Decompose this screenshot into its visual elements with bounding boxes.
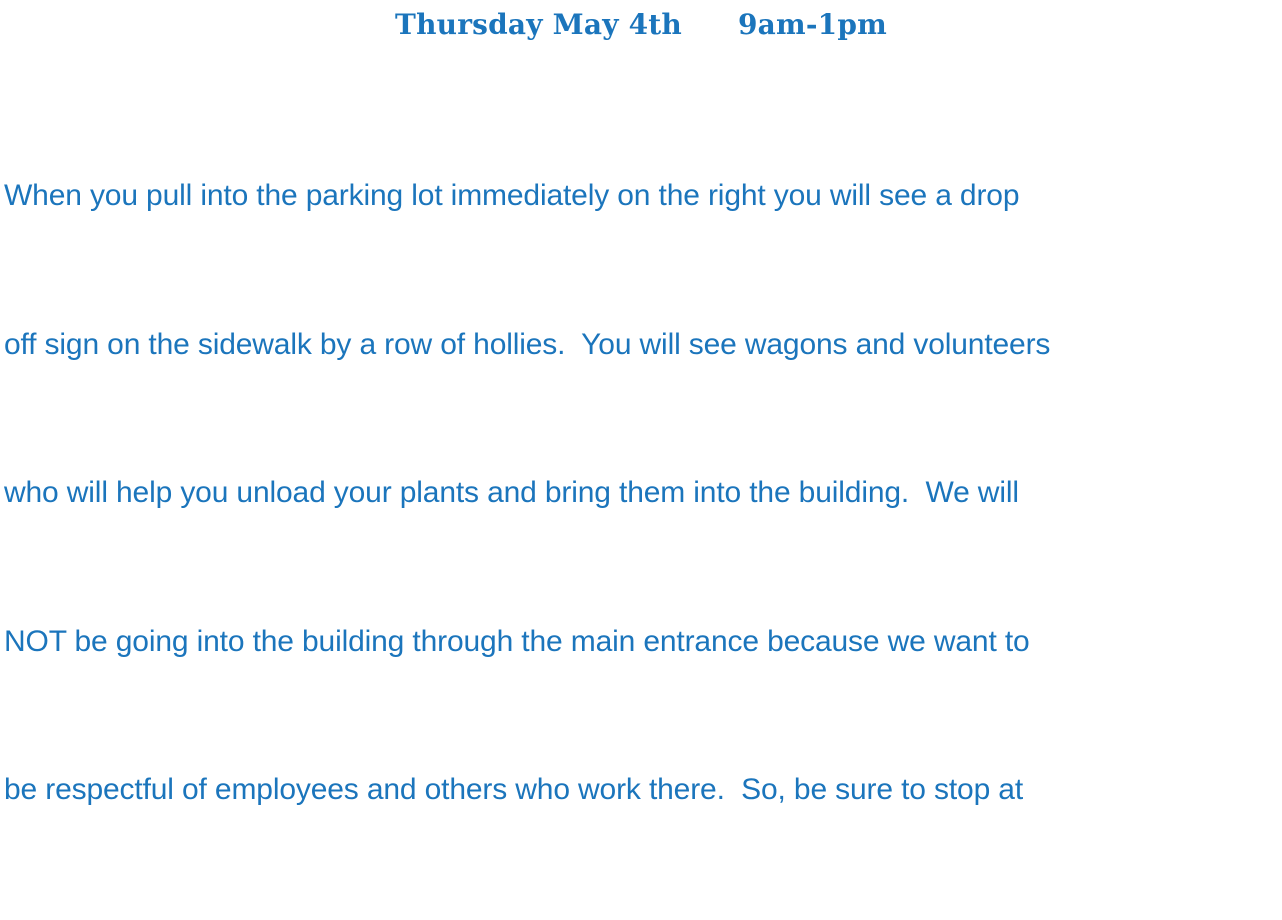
body-line: NOT be going into the building through t… [4, 617, 1280, 667]
body-line: When you pull into the parking lot immed… [4, 171, 1280, 221]
body-line: the drop off point and let the volunteer… [4, 914, 1280, 920]
body-line: off sign on the sidewalk by a row of hol… [4, 320, 1280, 370]
body-line: who will help you unload your plants and… [4, 468, 1280, 518]
event-date: Thursday May 4th [395, 6, 682, 44]
document-body: When you pull into the parking lot immed… [4, 72, 1280, 920]
event-heading: Thursday May 4th9am-1pm [0, 6, 1282, 44]
document-page: Thursday May 4th9am-1pm When you pull in… [0, 0, 1282, 460]
paragraph-drop-off-instructions: When you pull into the parking lot immed… [4, 72, 1280, 920]
body-line: be respectful of employees and others wh… [4, 765, 1280, 815]
event-time: 9am-1pm [738, 6, 887, 44]
